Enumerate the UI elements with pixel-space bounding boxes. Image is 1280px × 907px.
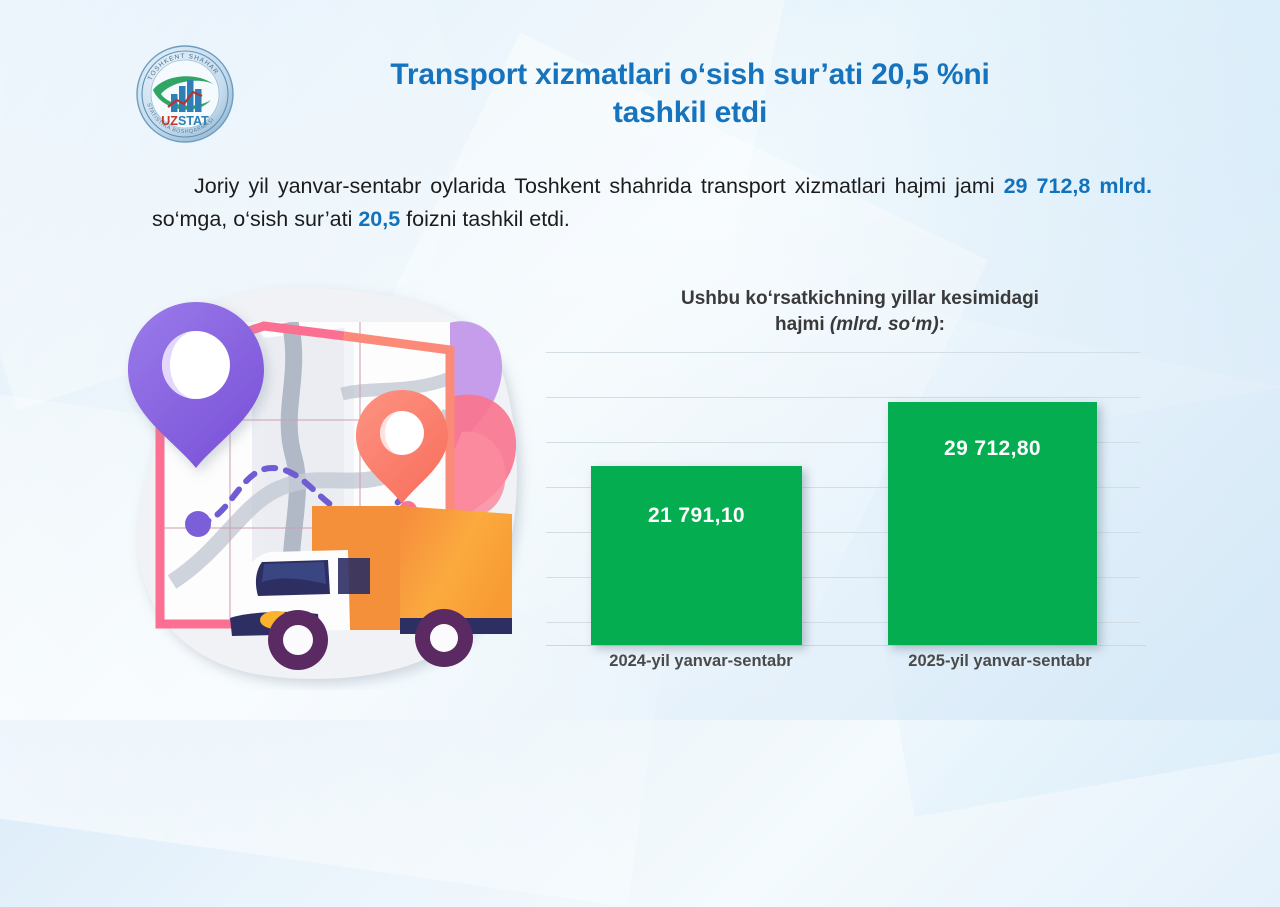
gridline (546, 397, 1140, 398)
bar-chart-plot: 21 791,10 29 712,80 (546, 346, 1146, 646)
body-highlight-growth: 20,5 (358, 207, 400, 231)
logo-text-stat: STAT (178, 114, 209, 128)
bar-value-label-2024: 21 791,10 (591, 504, 802, 528)
bar-value-label-2025: 29 712,80 (888, 437, 1097, 461)
gridline (546, 352, 1140, 353)
infographic-page: TOSHKENT SHAHAR STATISTIKA BOSHQARMASI U… (0, 0, 1280, 720)
chart-heading-line1: Ushbu ko‘rsatkichning yillar kesimidagi (681, 288, 1039, 309)
page-title-line1: Transport xizmatlari o‘sish sur’ati 20,5… (390, 58, 989, 91)
category-label-2025: 2025-yil yanvar-sentabr (845, 652, 1155, 671)
body-paragraph: Joriy yil yanvar-sentabr oylarida Toshke… (152, 170, 1152, 235)
body-highlight-volume: 29 712,8 mlrd. (1004, 174, 1152, 198)
logo-text-uz: UZ (161, 114, 178, 128)
page-title-line2: tashkil etdi (613, 96, 767, 129)
route-start-dot (185, 511, 211, 537)
truck-wheel-front (268, 610, 328, 670)
chart-heading-line2-colon: : (939, 314, 945, 335)
svg-text:UZSTAT: UZSTAT (161, 114, 209, 128)
truck-cargo-right (400, 506, 512, 630)
chart-heading-line2-unit: (mlrd. so‘m) (830, 314, 939, 335)
body-segment-1: Joriy yil yanvar-sentabr oylarida Toshke… (194, 174, 1004, 198)
uzstat-logo: TOSHKENT SHAHAR STATISTIKA BOSHQARMASI U… (135, 44, 235, 144)
category-label-2024: 2024-yil yanvar-sentabr (546, 652, 856, 671)
bar-2025[interactable]: 29 712,80 (888, 402, 1097, 645)
chart-heading-line2-plain: hajmi (775, 314, 830, 335)
bar-2024[interactable]: 21 791,10 (591, 466, 802, 645)
truck-wheel-rear (415, 609, 473, 667)
page-title: Transport xizmatlari o‘sish sur’ati 20,5… (285, 56, 1095, 133)
body-segment-2: so‘mga, o‘sish sur’ati (152, 207, 358, 231)
body-segment-3: foizni tashkil etdi. (400, 207, 570, 231)
delivery-map-truck-illustration (112, 282, 548, 690)
chart-heading: Ushbu ko‘rsatkichning yillar kesimidagi … (560, 286, 1160, 338)
